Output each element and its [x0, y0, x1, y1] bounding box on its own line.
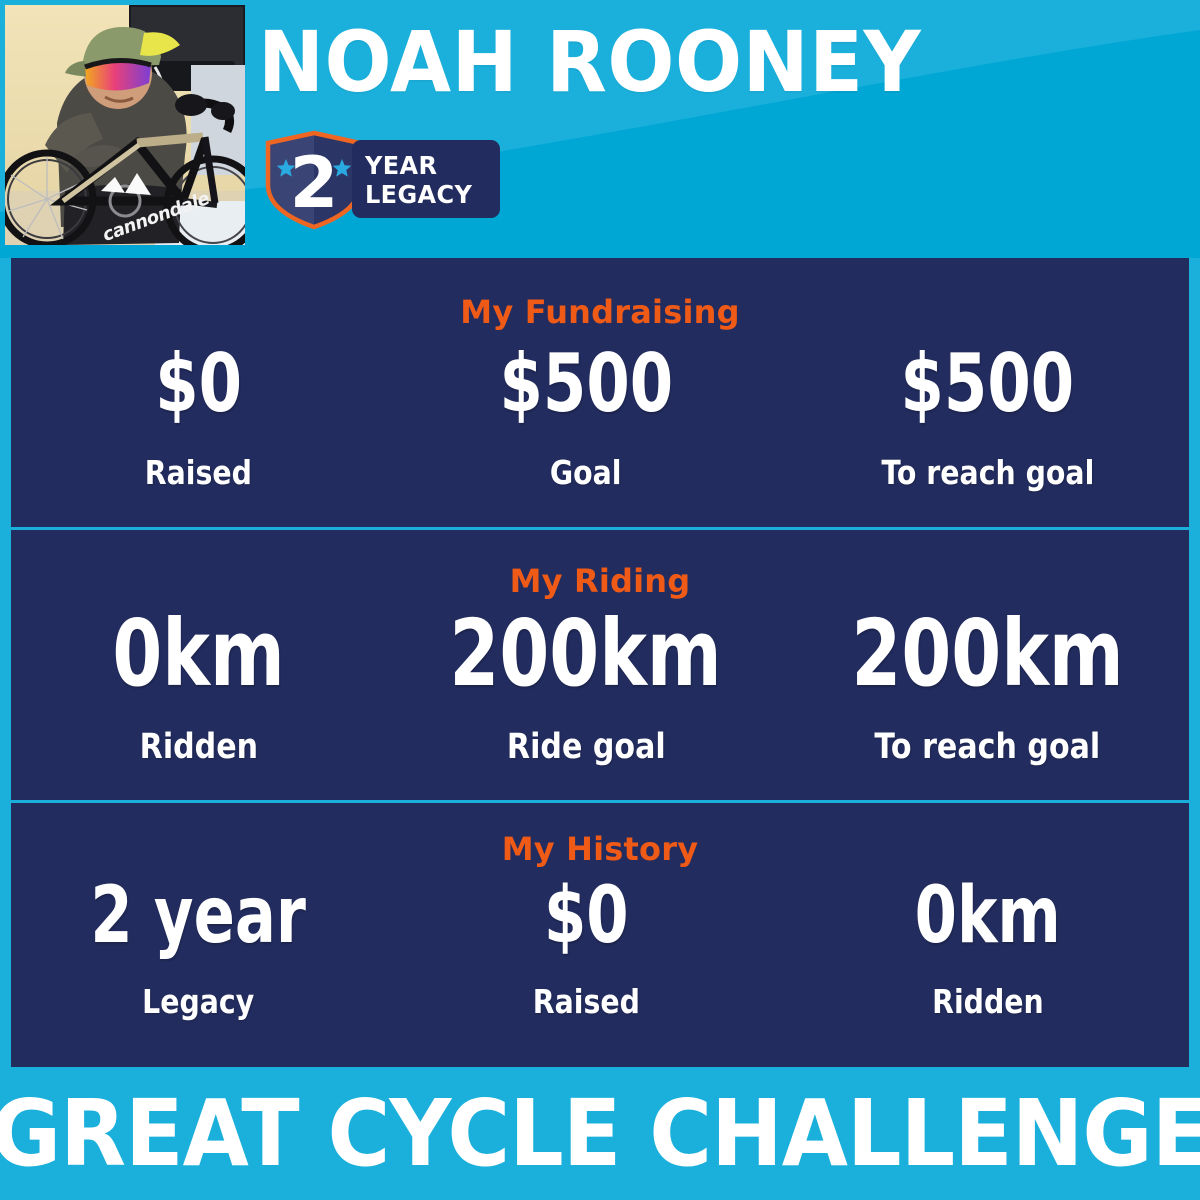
- card-footer: GREAT CYCLE CHALLENGE: [0, 1067, 1200, 1200]
- stat-value: 2 year: [91, 877, 306, 955]
- stat-label: To reach goal: [881, 456, 1094, 489]
- stat-history-raised: $0 Raised: [386, 877, 786, 1018]
- stat-legacy: 2 year Legacy: [11, 877, 386, 1018]
- stats-row-fundraising: $0 Raised $500 Goal $500 To reach goal: [11, 344, 1189, 489]
- stat-value: 0km: [914, 877, 1060, 955]
- stat-raised: $0 Raised: [11, 344, 386, 489]
- stat-value: 200km: [450, 608, 722, 700]
- stat-label: Ridden: [932, 985, 1044, 1018]
- event-name: GREAT CYCLE CHALLENGE: [0, 1088, 1200, 1180]
- stat-value: 200km: [851, 608, 1123, 700]
- stat-to-reach-goal: $500 To reach goal: [786, 344, 1189, 489]
- stat-value: $0: [155, 344, 242, 424]
- participant-name: NOAH ROONEY: [258, 8, 1104, 116]
- stats-row-riding: 0km Ridden 200km Ride goal 200km To reac…: [11, 608, 1189, 765]
- cyclist-photo-illustration: cannondale: [5, 5, 245, 245]
- section-title-riding: My Riding: [11, 562, 1189, 600]
- section-title-history: My History: [11, 830, 1189, 868]
- stat-ridden: 0km Ridden: [11, 608, 386, 765]
- stat-label: Ridden: [139, 730, 257, 765]
- stat-label: Goal: [550, 456, 622, 489]
- card-header: cannondale NOAH ROONEY: [0, 0, 1200, 258]
- stat-label: To reach goal: [875, 730, 1101, 765]
- section-fundraising: My Fundraising $0 Raised $500 Goal $500 …: [11, 258, 1189, 527]
- stat-goal: $500 Goal: [386, 344, 786, 489]
- legacy-badge: 2 YEAR LEGACY: [264, 128, 504, 230]
- section-title-fundraising: My Fundraising: [11, 293, 1189, 331]
- stat-label: Raised: [532, 985, 639, 1018]
- stat-label: Ride goal: [507, 730, 666, 765]
- legacy-label-plate: YEAR LEGACY: [352, 140, 500, 218]
- stat-value: $500: [499, 344, 673, 424]
- profile-photo: cannondale: [5, 5, 245, 245]
- stat-value: $0: [544, 877, 629, 955]
- stat-value: $500: [901, 344, 1075, 424]
- section-history: My History 2 year Legacy $0 Raised 0km R…: [11, 803, 1189, 1067]
- stat-ride-goal: 200km Ride goal: [386, 608, 786, 765]
- stat-label: Raised: [145, 456, 252, 489]
- stat-history-ridden: 0km Ridden: [786, 877, 1189, 1018]
- stat-ride-to-reach-goal: 200km To reach goal: [786, 608, 1189, 765]
- stat-label: Legacy: [142, 985, 254, 1018]
- stats-row-history: 2 year Legacy $0 Raised 0km Ridden: [11, 877, 1189, 1018]
- legacy-label-line1: YEAR: [365, 153, 437, 178]
- section-riding: My Riding 0km Ridden 200km Ride goal 200…: [11, 530, 1189, 800]
- stats-panel: My Fundraising $0 Raised $500 Goal $500 …: [11, 258, 1189, 1067]
- fundraiser-stats-card: cannondale NOAH ROONEY: [0, 0, 1200, 1200]
- legacy-label-line2: LEGACY: [365, 182, 472, 207]
- stat-value: 0km: [112, 608, 284, 700]
- legacy-year-number: 2: [290, 142, 339, 224]
